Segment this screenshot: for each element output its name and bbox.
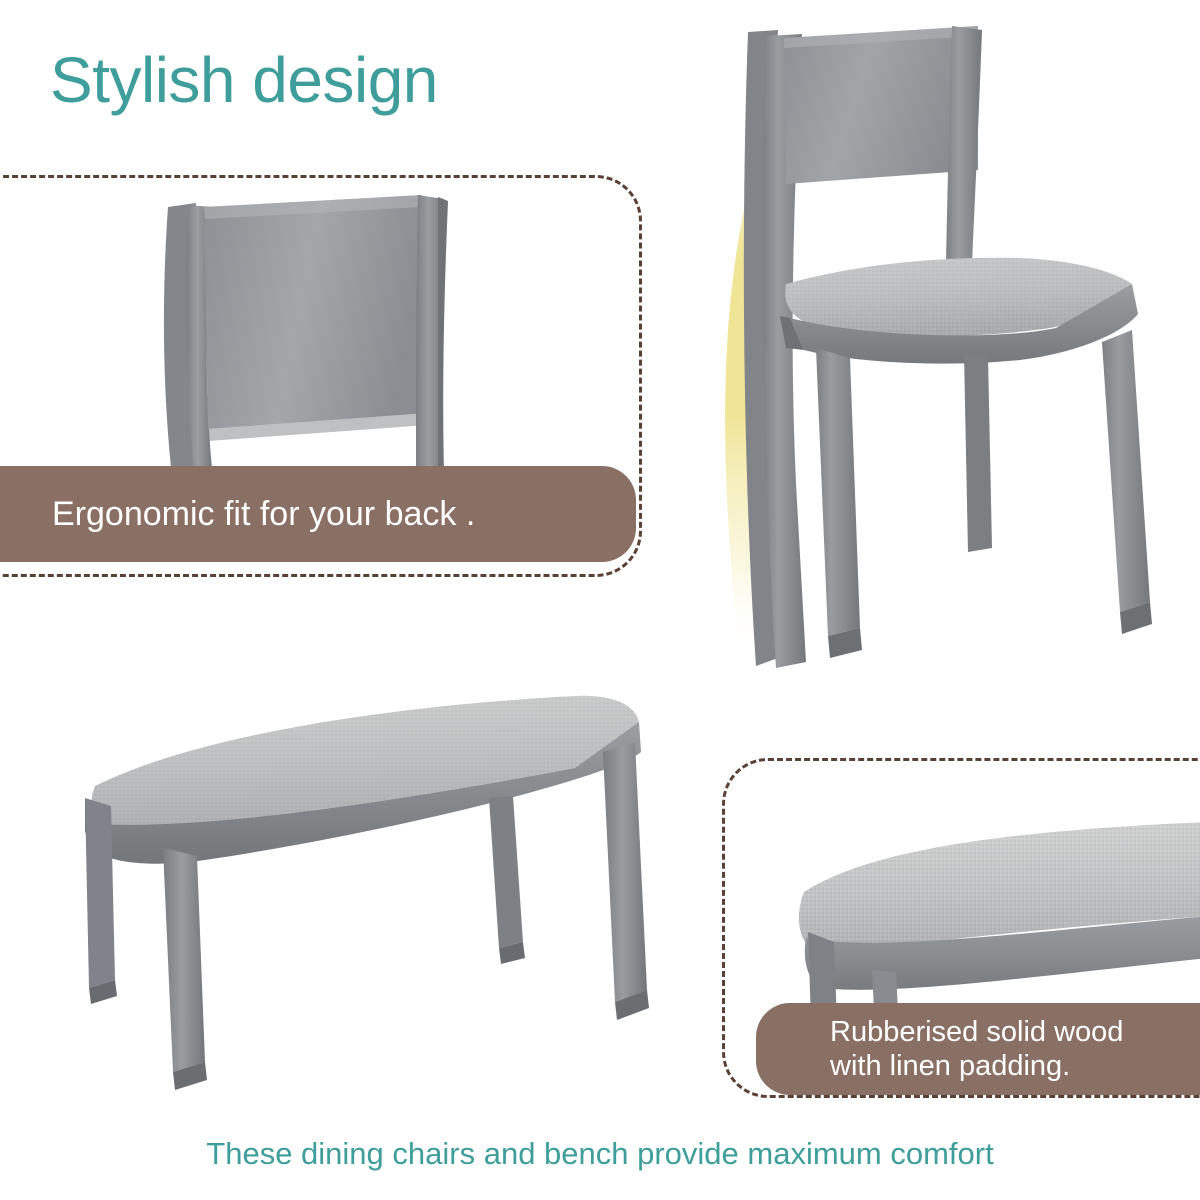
footer-tagline: These dining chairs and bench provide ma… [0,1136,1200,1172]
ergonomic-caption-banner: Ergonomic fit for your back . [0,466,636,562]
marketing-image-canvas: Ergonomic fit for your back . Rubberised… [0,0,1200,1200]
ergonomic-caption-text: Ergonomic fit for your back . [52,495,475,534]
material-caption-line-2: with linen padding. [830,1049,1070,1083]
material-caption-banner: Rubberised solid wood with linen padding… [756,1003,1200,1095]
dining-bench-image [55,690,675,1090]
dining-chair-image [720,18,1190,698]
material-caption-line-1: Rubberised solid wood [830,1015,1123,1049]
page-title: Stylish design [50,48,438,112]
